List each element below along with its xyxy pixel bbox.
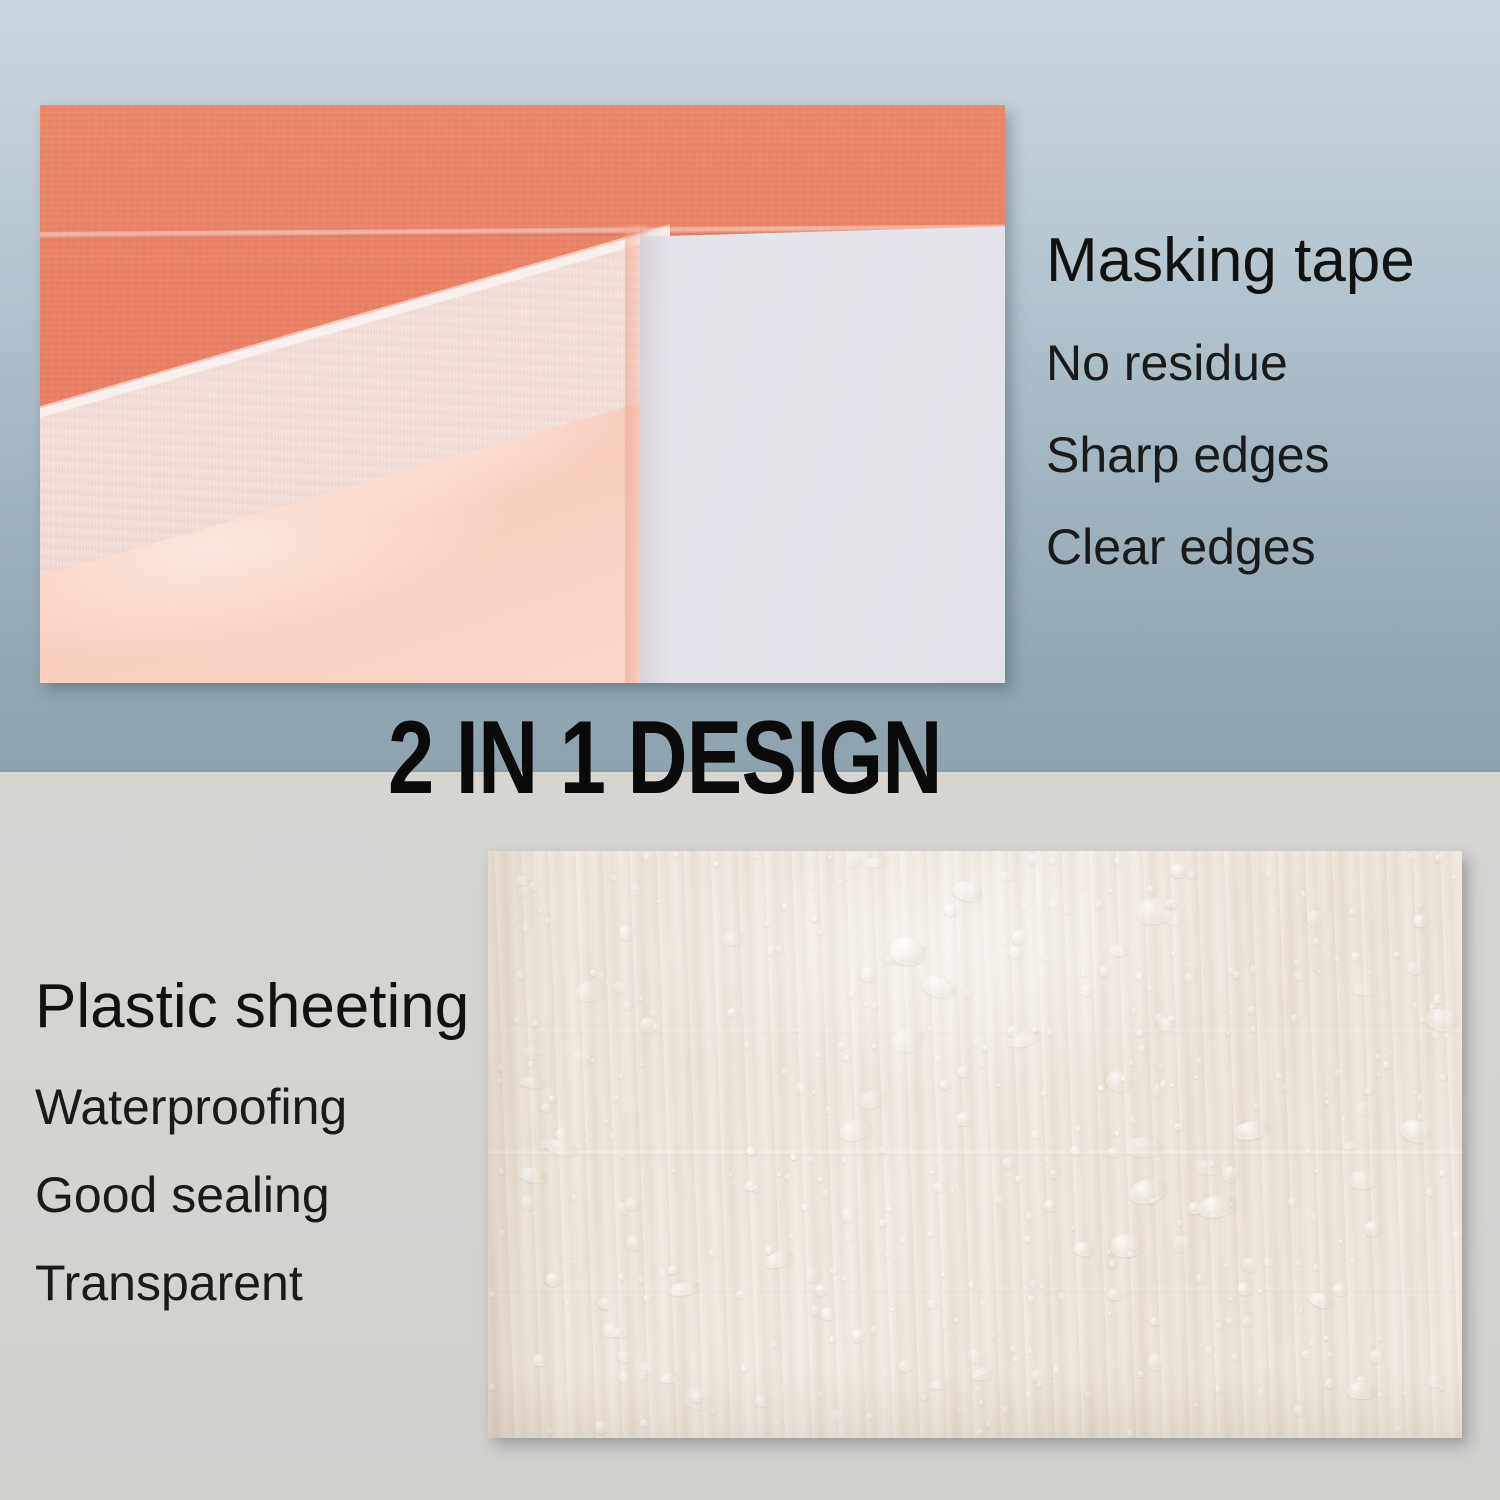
water-droplet bbox=[598, 971, 605, 979]
water-droplet bbox=[991, 1334, 995, 1338]
water-droplet bbox=[1223, 1161, 1228, 1167]
water-droplet bbox=[1174, 1123, 1184, 1130]
masking-tape-feature-3: Clear edges bbox=[1046, 522, 1415, 572]
water-droplet bbox=[1349, 909, 1354, 915]
water-droplet bbox=[631, 883, 643, 895]
plastic-sheeting-text-block: Plastic sheeting Waterproofing Good seal… bbox=[35, 976, 469, 1346]
water-droplet bbox=[1210, 1162, 1214, 1166]
water-droplet bbox=[1002, 1158, 1013, 1168]
water-droplet bbox=[611, 875, 617, 880]
water-droplet bbox=[1408, 853, 1415, 859]
sheeting-fold-line bbox=[488, 1151, 1462, 1156]
plastic-sheeting-feature-2: Good sealing bbox=[35, 1170, 469, 1220]
headline-2-in-1-design: 2 IN 1 DESIGN bbox=[388, 706, 942, 810]
water-droplet bbox=[604, 1119, 608, 1123]
water-droplet bbox=[1136, 972, 1143, 980]
water-droplet bbox=[819, 1307, 835, 1319]
water-droplet bbox=[1242, 1316, 1253, 1327]
water-droplet bbox=[951, 1189, 954, 1192]
water-droplet bbox=[572, 1260, 575, 1264]
sheeting-fold-line bbox=[488, 1029, 1462, 1034]
water-droplet bbox=[1115, 1131, 1119, 1136]
water-droplet bbox=[1350, 1258, 1355, 1264]
water-droplet bbox=[765, 1246, 773, 1254]
masking-tape-feature-2: Sharp edges bbox=[1046, 430, 1415, 480]
water-droplet bbox=[837, 1042, 845, 1050]
water-droplet bbox=[872, 1002, 879, 1009]
water-droplet bbox=[968, 1281, 975, 1288]
water-droplet bbox=[841, 1157, 847, 1163]
water-droplet bbox=[668, 1265, 678, 1274]
water-droplet bbox=[812, 915, 820, 922]
water-droplet bbox=[1293, 971, 1306, 980]
water-droplet bbox=[1028, 1349, 1032, 1354]
water-droplet bbox=[1226, 1318, 1233, 1325]
water-droplet bbox=[1024, 1236, 1031, 1243]
water-droplet bbox=[1314, 1169, 1318, 1173]
water-droplet bbox=[1301, 891, 1307, 896]
water-droplet bbox=[796, 1029, 799, 1032]
water-droplet bbox=[1098, 1085, 1105, 1091]
water-droplet bbox=[1301, 1350, 1311, 1358]
water-droplet bbox=[1258, 1289, 1262, 1293]
water-droplet bbox=[885, 1252, 890, 1257]
water-droplet bbox=[1047, 1030, 1053, 1036]
water-droplet bbox=[1196, 1274, 1204, 1283]
water-droplet bbox=[1377, 1073, 1381, 1077]
water-droplet bbox=[1306, 1149, 1310, 1152]
water-droplet bbox=[1071, 1226, 1075, 1230]
water-droplet bbox=[638, 1276, 645, 1283]
water-droplet bbox=[1109, 945, 1128, 957]
water-droplet bbox=[829, 1336, 836, 1344]
water-droplet bbox=[795, 1082, 808, 1093]
masking-tape-feature-1: No residue bbox=[1046, 338, 1415, 388]
water-droplet bbox=[1031, 1130, 1040, 1139]
water-droplet bbox=[1383, 1061, 1390, 1069]
water-droplet bbox=[1271, 909, 1276, 914]
water-droplet bbox=[818, 1177, 823, 1182]
water-droplet bbox=[1310, 1213, 1318, 1220]
water-droplet bbox=[653, 1023, 660, 1031]
water-droplet bbox=[982, 1064, 985, 1067]
water-droplet bbox=[1109, 1260, 1116, 1266]
water-droplet bbox=[1106, 1071, 1133, 1091]
water-droplet bbox=[1364, 1088, 1372, 1094]
water-droplet bbox=[777, 1173, 781, 1177]
water-droplet bbox=[764, 921, 769, 927]
masking-tape-title: Masking tape bbox=[1046, 230, 1415, 292]
water-droplet bbox=[753, 1185, 759, 1191]
water-droplet bbox=[1013, 1357, 1019, 1363]
water-droplet bbox=[1107, 1147, 1120, 1156]
water-droplet bbox=[1296, 1259, 1303, 1266]
water-droplet bbox=[825, 1106, 833, 1114]
water-droplet bbox=[1109, 889, 1113, 893]
water-droplet bbox=[727, 1008, 738, 1018]
water-droplet bbox=[852, 1329, 866, 1341]
water-droplet bbox=[954, 1318, 958, 1322]
water-droplet bbox=[643, 853, 650, 861]
water-droplet bbox=[879, 1147, 885, 1153]
water-droplet bbox=[659, 1269, 666, 1277]
water-droplet bbox=[1226, 873, 1230, 876]
water-droplet bbox=[782, 903, 788, 910]
water-droplet bbox=[1364, 1220, 1379, 1236]
water-droplet bbox=[623, 1000, 632, 1009]
water-droplet bbox=[1452, 1231, 1460, 1240]
water-droplet bbox=[1032, 1027, 1037, 1033]
water-droplet bbox=[1129, 1116, 1138, 1123]
water-droplet bbox=[1248, 1006, 1256, 1014]
water-droplet bbox=[980, 1299, 987, 1306]
water-droplet bbox=[789, 1180, 792, 1183]
water-droplet bbox=[951, 1060, 954, 1063]
water-droplet bbox=[1417, 1094, 1424, 1102]
water-droplet bbox=[1444, 1033, 1450, 1038]
masked-clean-surface bbox=[640, 225, 1005, 683]
water-droplet bbox=[1420, 1017, 1426, 1024]
infographic-canvas: 2 IN 1 DESIGN Masking tape No residue Sh… bbox=[0, 0, 1500, 1500]
water-droplet bbox=[617, 1202, 630, 1214]
sheeting-fold-line bbox=[488, 1287, 1462, 1292]
water-droplet bbox=[753, 854, 757, 858]
water-droplet bbox=[1136, 1030, 1144, 1036]
plastic-sheeting-feature-3: Transparent bbox=[35, 1258, 469, 1308]
water-droplet bbox=[886, 1206, 892, 1212]
water-droplet bbox=[650, 1010, 658, 1018]
water-droplet bbox=[964, 989, 972, 997]
water-droplet bbox=[1028, 1295, 1034, 1301]
water-droplet bbox=[848, 991, 855, 998]
masking-tape-photo bbox=[40, 105, 1005, 683]
water-droplet bbox=[1030, 1280, 1037, 1288]
water-droplet bbox=[1270, 1287, 1273, 1290]
water-droplet bbox=[1049, 901, 1058, 908]
water-droplet bbox=[1160, 1080, 1168, 1088]
water-droplet bbox=[942, 1321, 949, 1328]
water-droplet bbox=[1417, 1113, 1425, 1120]
water-droplet bbox=[815, 1284, 827, 1296]
water-droplet bbox=[830, 1267, 837, 1274]
water-droplet bbox=[1232, 1353, 1239, 1361]
water-droplet bbox=[927, 1231, 933, 1237]
water-droplet bbox=[1241, 1257, 1257, 1272]
water-droplet bbox=[729, 1173, 733, 1176]
water-droplet bbox=[1291, 1014, 1298, 1022]
water-droplet bbox=[1282, 1084, 1289, 1091]
water-droplet bbox=[997, 1084, 1000, 1087]
water-droplet bbox=[1327, 1351, 1334, 1357]
plastic-sheeting-photo bbox=[488, 851, 1462, 1438]
water-droplet bbox=[891, 1308, 894, 1311]
water-droplet bbox=[1099, 966, 1109, 977]
water-droplet bbox=[1158, 1064, 1164, 1071]
sheeting-left-shadow bbox=[488, 851, 558, 1438]
water-droplet bbox=[1038, 915, 1041, 918]
water-droplet bbox=[1205, 1346, 1212, 1354]
masked-surface-shadow bbox=[640, 225, 670, 683]
water-droplet bbox=[706, 1082, 709, 1085]
water-droplet bbox=[1341, 1117, 1346, 1122]
water-droplet bbox=[1139, 1045, 1146, 1052]
water-droplet bbox=[811, 1305, 822, 1315]
water-droplet bbox=[785, 1174, 790, 1180]
water-droplet bbox=[934, 1161, 938, 1165]
water-droplet bbox=[1223, 1263, 1228, 1268]
water-droplet bbox=[864, 1003, 867, 1006]
water-droplet bbox=[1021, 904, 1028, 912]
water-droplet bbox=[1378, 1337, 1382, 1340]
water-droplet bbox=[926, 1299, 937, 1307]
water-droplet bbox=[1188, 871, 1196, 879]
water-droplet bbox=[702, 926, 706, 931]
water-droplet bbox=[944, 904, 959, 916]
water-droplet bbox=[1050, 1169, 1058, 1178]
water-droplet bbox=[1250, 965, 1257, 973]
water-droplet bbox=[842, 1275, 849, 1281]
water-droplet bbox=[994, 1195, 1005, 1204]
water-droplet bbox=[771, 1342, 777, 1347]
plastic-sheeting-feature-1: Waterproofing bbox=[35, 1082, 469, 1132]
water-droplet bbox=[1196, 1160, 1220, 1176]
water-droplet bbox=[880, 1219, 887, 1226]
water-droplet bbox=[736, 1290, 745, 1299]
water-droplet bbox=[1058, 1292, 1065, 1300]
water-droplet bbox=[714, 861, 719, 867]
water-droplet bbox=[767, 946, 775, 955]
water-droplet bbox=[1131, 1008, 1137, 1014]
water-droplet bbox=[1010, 1345, 1017, 1352]
water-droplet bbox=[957, 1066, 969, 1077]
water-droplet bbox=[844, 1055, 849, 1061]
plastic-sheeting-title: Plastic sheeting bbox=[35, 976, 469, 1038]
water-droplet bbox=[1426, 1188, 1436, 1196]
water-droplet bbox=[1413, 1002, 1420, 1009]
water-droplet bbox=[1351, 952, 1361, 961]
water-droplet bbox=[1196, 1057, 1203, 1065]
water-droplet bbox=[565, 1300, 570, 1304]
water-droplet bbox=[1356, 1102, 1372, 1116]
water-droplet bbox=[838, 880, 842, 885]
water-droplet bbox=[1414, 1091, 1418, 1094]
water-droplet bbox=[1233, 971, 1240, 979]
water-droplet bbox=[1125, 1137, 1164, 1157]
water-droplet bbox=[1432, 1031, 1440, 1039]
water-droplet bbox=[815, 1052, 821, 1058]
water-droplet bbox=[1324, 1093, 1328, 1097]
masking-tape-text-block: Masking tape No residue Sharp edges Clea… bbox=[1046, 230, 1415, 614]
water-droplet bbox=[1370, 1350, 1382, 1363]
water-droplet bbox=[930, 1171, 933, 1174]
water-droplet bbox=[1448, 1013, 1453, 1018]
sheeting-bottom-shadow bbox=[488, 1368, 1462, 1438]
water-droplet bbox=[1114, 858, 1121, 865]
water-droplet bbox=[781, 1067, 789, 1075]
water-droplet bbox=[1406, 961, 1423, 974]
water-droplet bbox=[822, 1189, 830, 1197]
water-droplet bbox=[1253, 1103, 1259, 1110]
water-droplet bbox=[1027, 854, 1038, 864]
water-droplet bbox=[1216, 1322, 1223, 1329]
water-droplet bbox=[1324, 1336, 1329, 1340]
water-droplet bbox=[1184, 973, 1196, 982]
water-droplet bbox=[643, 1295, 651, 1302]
